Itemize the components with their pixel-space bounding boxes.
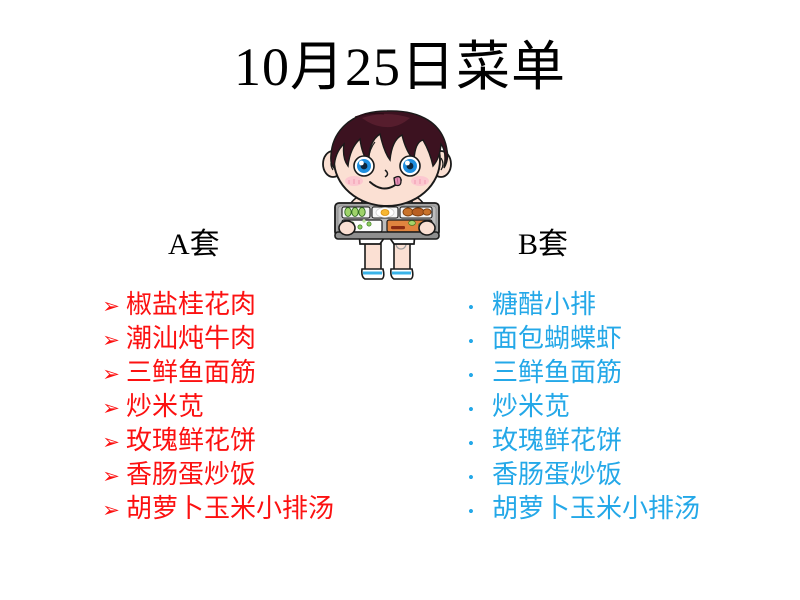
list-item: • 玫瑰鲜花饼 <box>458 424 788 458</box>
list-item: • 炒米苋 <box>458 390 788 424</box>
list-item-label: 胡萝卜玉米小排汤 <box>124 492 334 526</box>
list-item: ➢ 胡萝卜玉米小排汤 <box>98 492 428 526</box>
list-item: ➢ 椒盐桂花肉 <box>98 288 428 322</box>
list-item-label: 潮汕炖牛肉 <box>124 322 256 356</box>
dot-bullet-icon: • <box>458 359 484 393</box>
set-b-header: B套 <box>518 228 568 262</box>
list-item-label: 玫瑰鲜花饼 <box>484 424 622 458</box>
list-item-label: 玫瑰鲜花饼 <box>124 424 256 458</box>
dot-bullet-icon: • <box>458 461 484 495</box>
dot-bullet-icon: • <box>458 427 484 461</box>
dot-bullet-icon: • <box>458 495 484 529</box>
list-item: • 胡萝卜玉米小排汤 <box>458 492 788 526</box>
dot-bullet-icon: • <box>458 291 484 325</box>
list-item: • 三鲜鱼面筋 <box>458 356 788 390</box>
boy-holding-lunch-tray-illustration <box>302 108 472 286</box>
list-item: ➢ 炒米苋 <box>98 390 428 424</box>
arrow-bullet-icon: ➢ <box>98 323 124 357</box>
list-item-label: 面包蝴蝶虾 <box>484 322 622 356</box>
arrow-bullet-icon: ➢ <box>98 391 124 425</box>
menu-list-set-a: ➢ 椒盐桂花肉 ➢ 潮汕炖牛肉 ➢ 三鲜鱼面筋 ➢ 炒米苋 ➢ 玫瑰鲜花饼 ➢ … <box>98 288 428 526</box>
list-item-label: 炒米苋 <box>484 390 570 424</box>
list-item-label: 胡萝卜玉米小排汤 <box>484 492 700 526</box>
list-item-label: 三鲜鱼面筋 <box>484 356 622 390</box>
list-item-label: 香肠蛋炒饭 <box>484 458 622 492</box>
dot-bullet-icon: • <box>458 325 484 359</box>
list-item-label: 三鲜鱼面筋 <box>124 356 256 390</box>
arrow-bullet-icon: ➢ <box>98 493 124 527</box>
list-item: ➢ 三鲜鱼面筋 <box>98 356 428 390</box>
menu-slide: 10月25日菜单 <box>0 0 800 600</box>
set-a-header: A套 <box>168 228 220 262</box>
list-item-label: 糖醋小排 <box>484 288 596 322</box>
list-item-label: 香肠蛋炒饭 <box>124 458 256 492</box>
page-title: 10月25日菜单 <box>0 36 800 98</box>
list-item: ➢ 香肠蛋炒饭 <box>98 458 428 492</box>
list-item: ➢ 玫瑰鲜花饼 <box>98 424 428 458</box>
list-item: • 面包蝴蝶虾 <box>458 322 788 356</box>
list-item: • 糖醋小排 <box>458 288 788 322</box>
arrow-bullet-icon: ➢ <box>98 425 124 459</box>
dot-bullet-icon: • <box>458 393 484 427</box>
list-item-label: 椒盐桂花肉 <box>124 288 256 322</box>
list-item: ➢ 潮汕炖牛肉 <box>98 322 428 356</box>
list-item-label: 炒米苋 <box>124 390 204 424</box>
menu-list-set-b: • 糖醋小排 • 面包蝴蝶虾 • 三鲜鱼面筋 • 炒米苋 • 玫瑰鲜花饼 • 香… <box>458 288 788 526</box>
arrow-bullet-icon: ➢ <box>98 289 124 323</box>
arrow-bullet-icon: ➢ <box>98 459 124 493</box>
arrow-bullet-icon: ➢ <box>98 357 124 391</box>
list-item: • 香肠蛋炒饭 <box>458 458 788 492</box>
